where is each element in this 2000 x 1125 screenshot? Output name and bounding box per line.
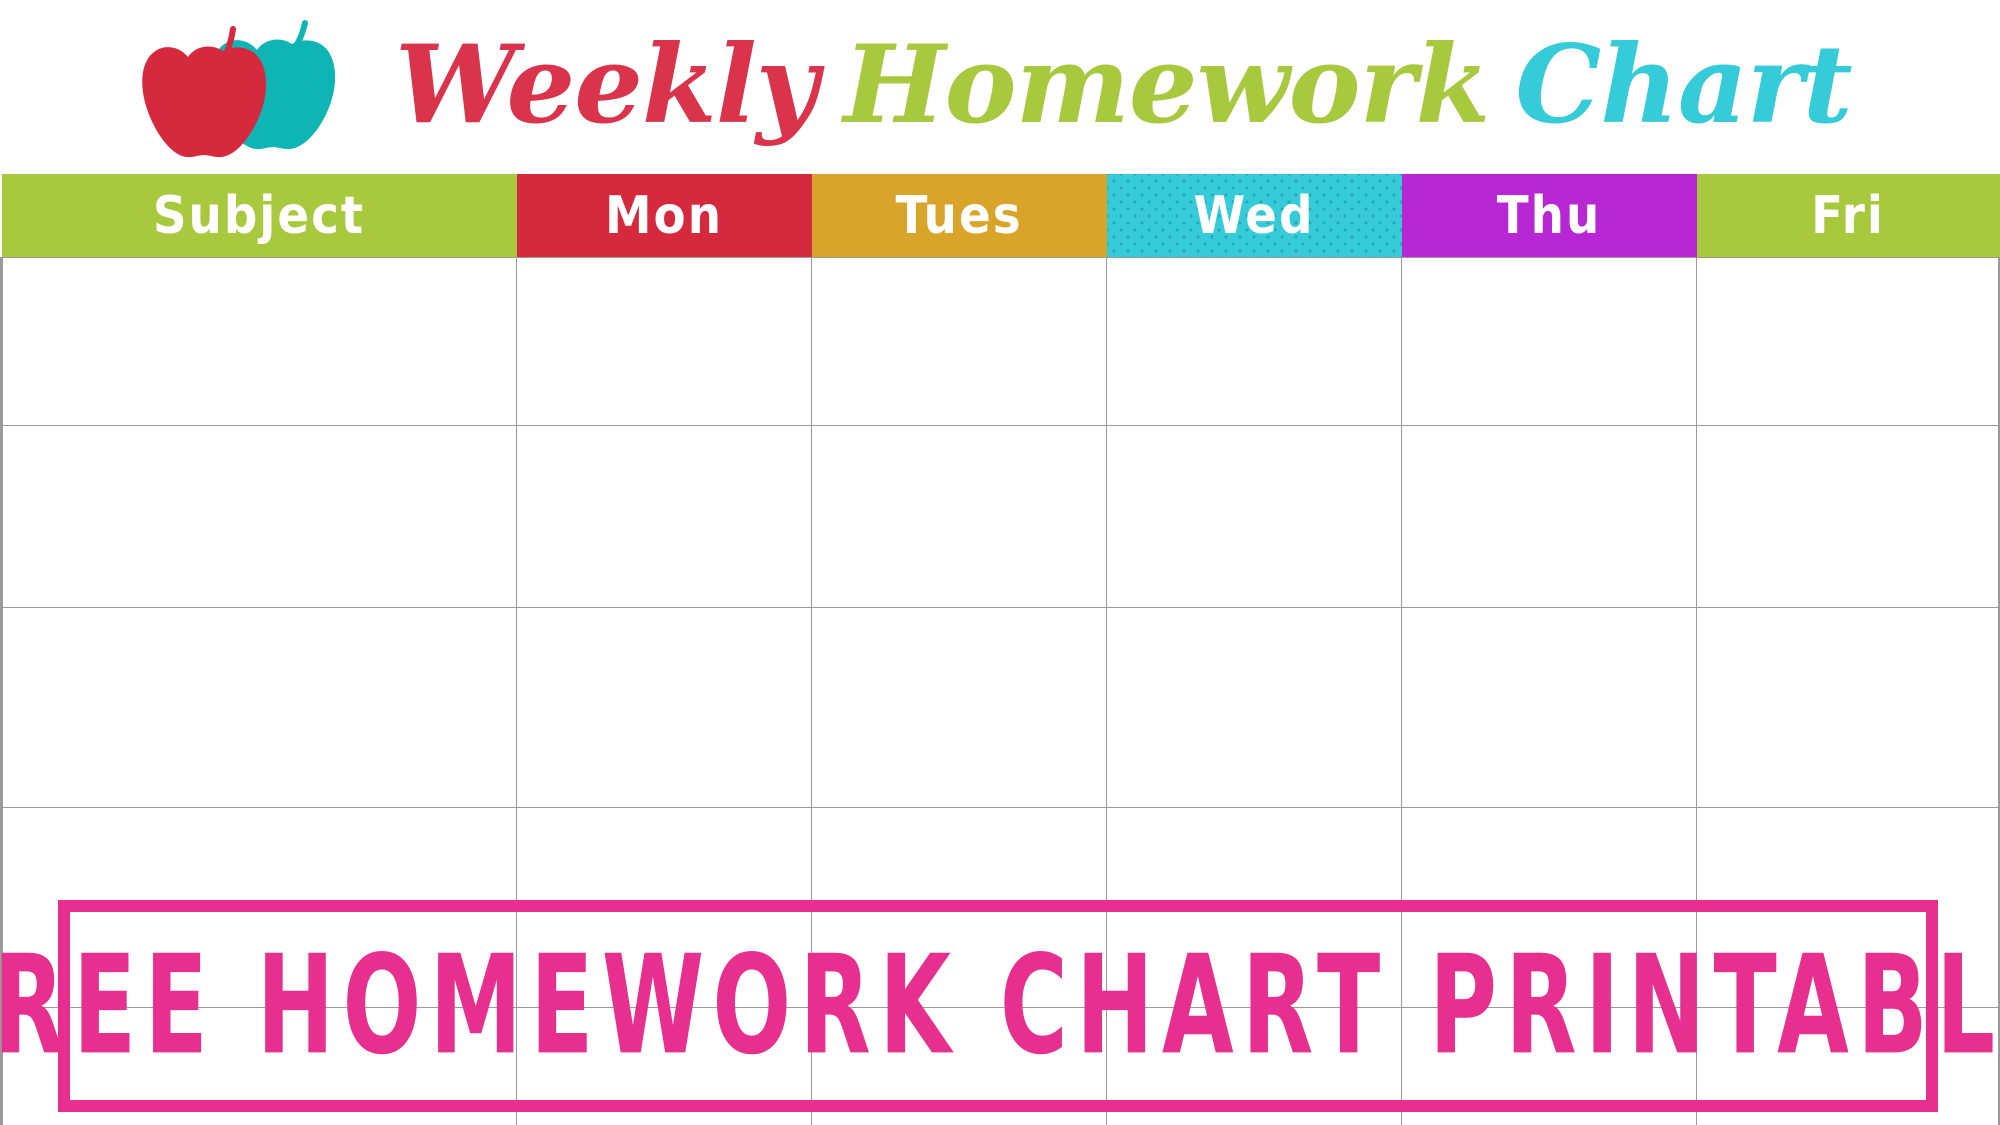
cell-thu[interactable] <box>1402 426 1697 608</box>
cell-tues[interactable] <box>812 258 1107 426</box>
cell-subject[interactable] <box>2 258 517 426</box>
page-title: Weekly Homework Chart <box>395 2 1715 168</box>
page-header: Weekly Homework Chart <box>0 0 2000 174</box>
cell-fri[interactable] <box>1697 426 2000 608</box>
promo-banner: FREE HOMEWORK CHART PRINTABLE <box>58 900 1938 1112</box>
column-header-fri: Fri <box>1697 174 2000 258</box>
table-row <box>2 258 2000 426</box>
cell-mon[interactable] <box>517 608 812 808</box>
cell-wed[interactable] <box>1107 426 1402 608</box>
cell-mon[interactable] <box>517 258 812 426</box>
cell-subject[interactable] <box>2 426 517 608</box>
cell-mon[interactable] <box>517 426 812 608</box>
cell-thu[interactable] <box>1402 258 1697 426</box>
table-row <box>2 426 2000 608</box>
cell-subject[interactable] <box>2 608 517 808</box>
cell-tues[interactable] <box>812 426 1107 608</box>
cell-wed[interactable] <box>1107 258 1402 426</box>
two-apples-icon <box>130 6 360 174</box>
column-header-mon: Mon <box>517 174 812 258</box>
column-header-subject: Subject <box>2 174 517 258</box>
promo-banner-text: FREE HOMEWORK CHART PRINTABLE <box>0 938 2000 1075</box>
table-header-row: Subject Mon Tues Wed Thu Fri <box>2 174 2000 258</box>
title-word-homework: Homework <box>844 22 1516 148</box>
title-word-chart: Chart <box>1515 22 1851 148</box>
column-header-tues: Tues <box>812 174 1107 258</box>
cell-tues[interactable] <box>812 608 1107 808</box>
weekly-homework-chart-page: Weekly Homework Chart Subject Mon Tues W… <box>0 0 2000 1125</box>
cell-fri[interactable] <box>1697 608 2000 808</box>
cell-fri[interactable] <box>1697 258 2000 426</box>
cell-thu[interactable] <box>1402 608 1697 808</box>
column-header-thu: Thu <box>1402 174 1697 258</box>
column-header-wed: Wed <box>1107 174 1402 258</box>
cell-wed[interactable] <box>1107 608 1402 808</box>
title-word-weekly: Weekly <box>395 22 844 148</box>
table-row <box>2 608 2000 808</box>
